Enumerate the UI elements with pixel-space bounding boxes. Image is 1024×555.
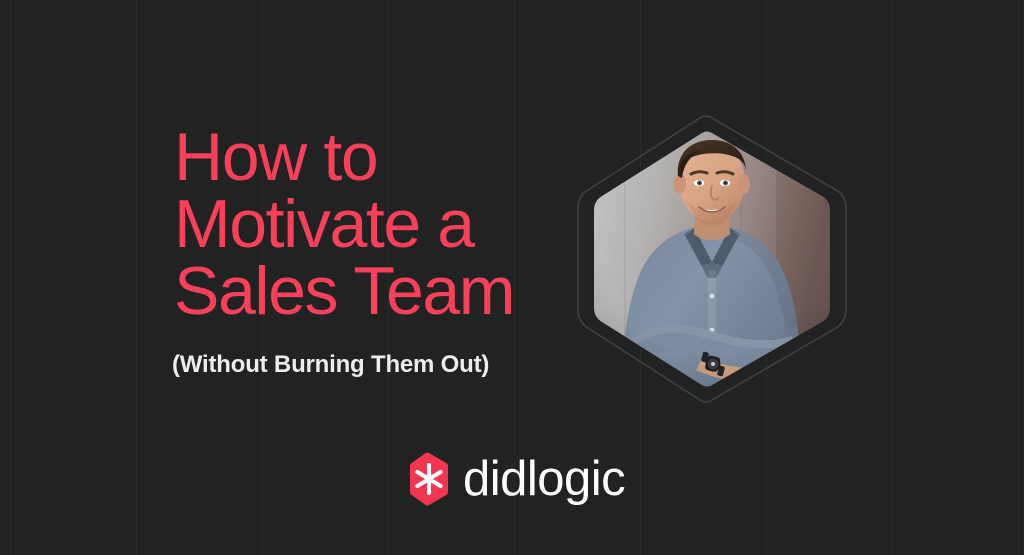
social-card-canvas: How to Motivate a Sales Team (Without Bu… bbox=[0, 0, 1024, 555]
didlogic-wordmark: didlogic bbox=[463, 455, 625, 504]
didlogic-hexagon-asterisk-icon bbox=[409, 452, 449, 506]
portrait-photo bbox=[590, 130, 834, 388]
subtitle: (Without Burning Them Out) bbox=[172, 350, 489, 380]
headline-block: How to Motivate a Sales Team bbox=[174, 124, 594, 325]
portrait-frame bbox=[574, 114, 850, 404]
headline-line-1: How to bbox=[174, 124, 594, 191]
headline-line-3: Sales Team bbox=[174, 258, 594, 325]
headline-line-2: Motivate a bbox=[174, 191, 594, 258]
brand-logo-lockup[interactable]: didlogic bbox=[409, 452, 625, 506]
